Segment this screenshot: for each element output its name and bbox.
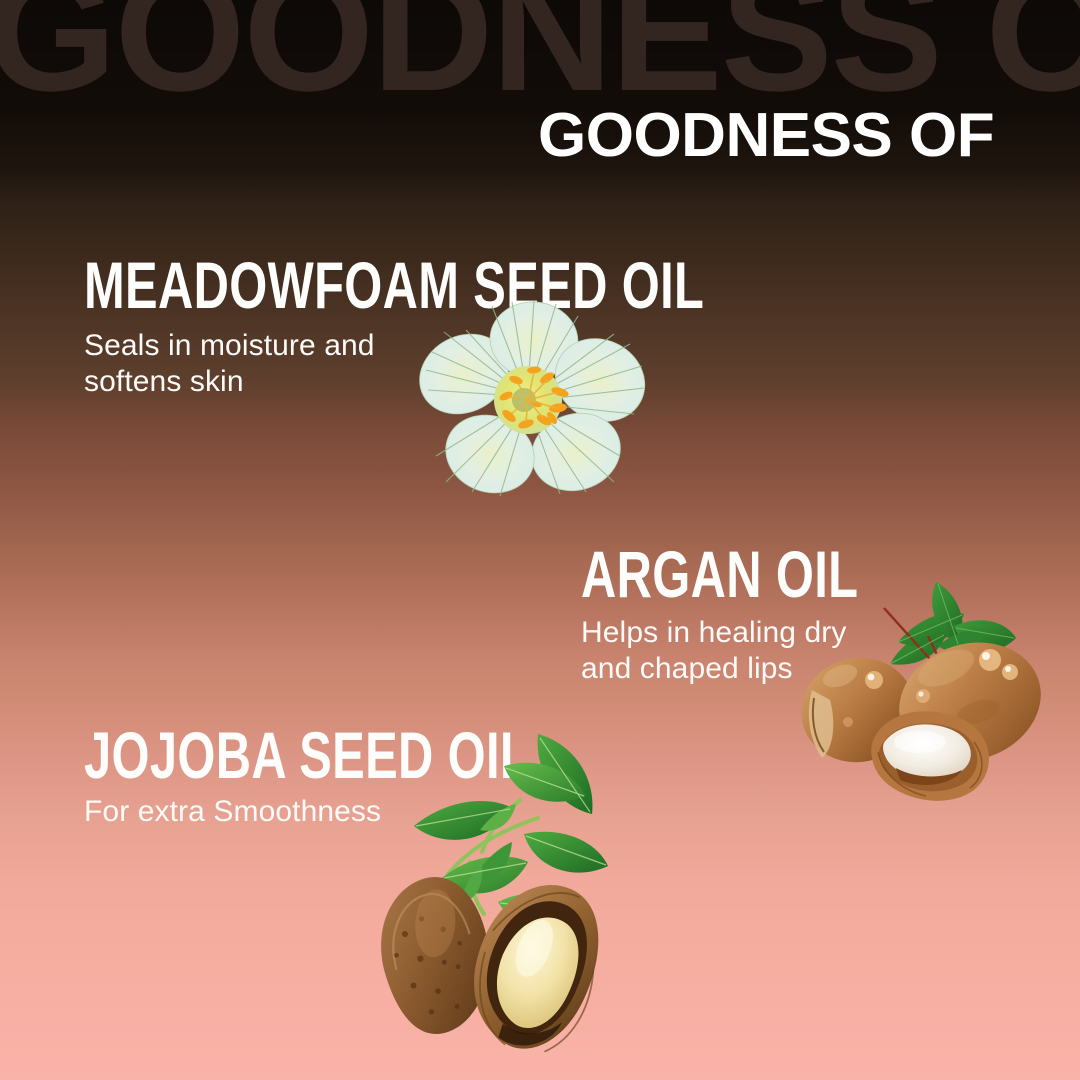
jojoba-seed-image bbox=[352, 726, 624, 1056]
meadowfoam-flower-image bbox=[408, 296, 658, 508]
page-title: GOODNESS OF bbox=[538, 104, 994, 168]
ingredient-benefits-poster: GOODNESS OF GOODNESS OF MEADOWFOAM SEED … bbox=[0, 0, 1080, 1080]
argan-nuts-image bbox=[778, 572, 1080, 812]
ghost-headline: GOODNESS OF bbox=[0, 0, 1080, 116]
